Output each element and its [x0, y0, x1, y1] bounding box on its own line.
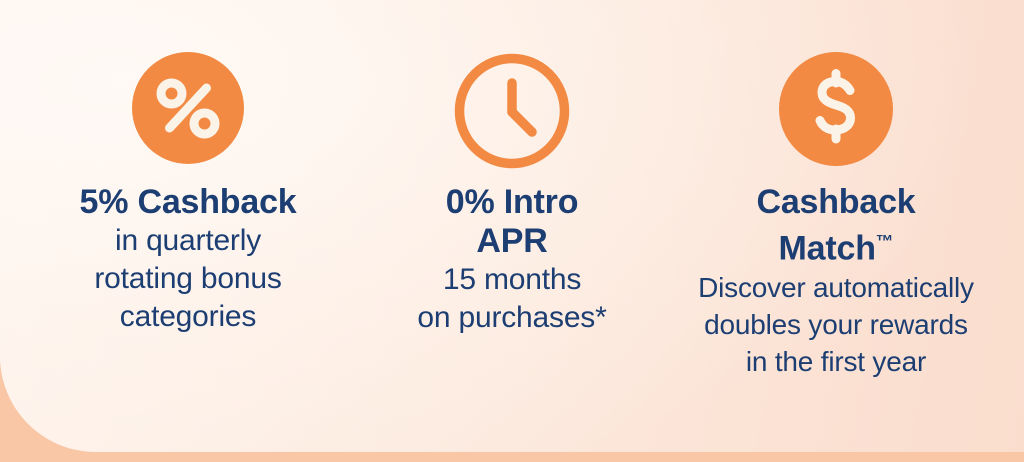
- dollar-circle-icon-wrap: [648, 52, 1024, 176]
- headline-text: Match: [779, 230, 876, 268]
- clock-icon-wrap: [376, 52, 648, 176]
- feature-card-intro-apr: 0% Intro APR 15 months on purchases*: [376, 0, 648, 337]
- clock-icon: [453, 52, 571, 170]
- dollar-circle-icon: [779, 52, 893, 166]
- body-line: 15 months: [380, 261, 644, 299]
- body-line: in quarterly: [4, 222, 372, 260]
- feature-columns: 5% Cashback in quarterly rotating bonus …: [0, 0, 1024, 462]
- feature-body: Discover automatically doubles your rewa…: [648, 269, 1024, 380]
- body-line: doubles your rewards: [650, 306, 1022, 343]
- percent-circle-icon-wrap: [0, 52, 376, 176]
- feature-card-cashback: 5% Cashback in quarterly rotating bonus …: [0, 0, 376, 336]
- headline-line: 0% Intro: [382, 183, 642, 222]
- body-line: Discover automatically: [650, 269, 1022, 306]
- headline-line: APR: [382, 222, 642, 261]
- body-line: rotating bonus: [4, 260, 372, 298]
- body-line: in the first year: [650, 343, 1022, 380]
- headline-line: 5% Cashback: [6, 183, 370, 222]
- trademark-symbol: ™: [876, 231, 894, 251]
- feature-body: 15 months on purchases*: [376, 261, 648, 337]
- feature-body: in quarterly rotating bonus categories: [0, 222, 376, 336]
- body-line: categories: [4, 298, 372, 336]
- feature-headline: Cashback Match™: [648, 183, 1024, 269]
- body-line: on purchases*: [380, 299, 644, 337]
- headline-line: Match™: [654, 222, 1018, 269]
- headline-line: Cashback: [654, 183, 1018, 222]
- percent-circle-icon: [132, 52, 244, 164]
- feature-headline: 5% Cashback: [0, 183, 376, 222]
- feature-headline: 0% Intro APR: [376, 183, 648, 261]
- feature-card-cashback-match: Cashback Match™ Discover automatically d…: [648, 0, 1024, 380]
- promo-banner: 5% Cashback in quarterly rotating bonus …: [0, 0, 1024, 462]
